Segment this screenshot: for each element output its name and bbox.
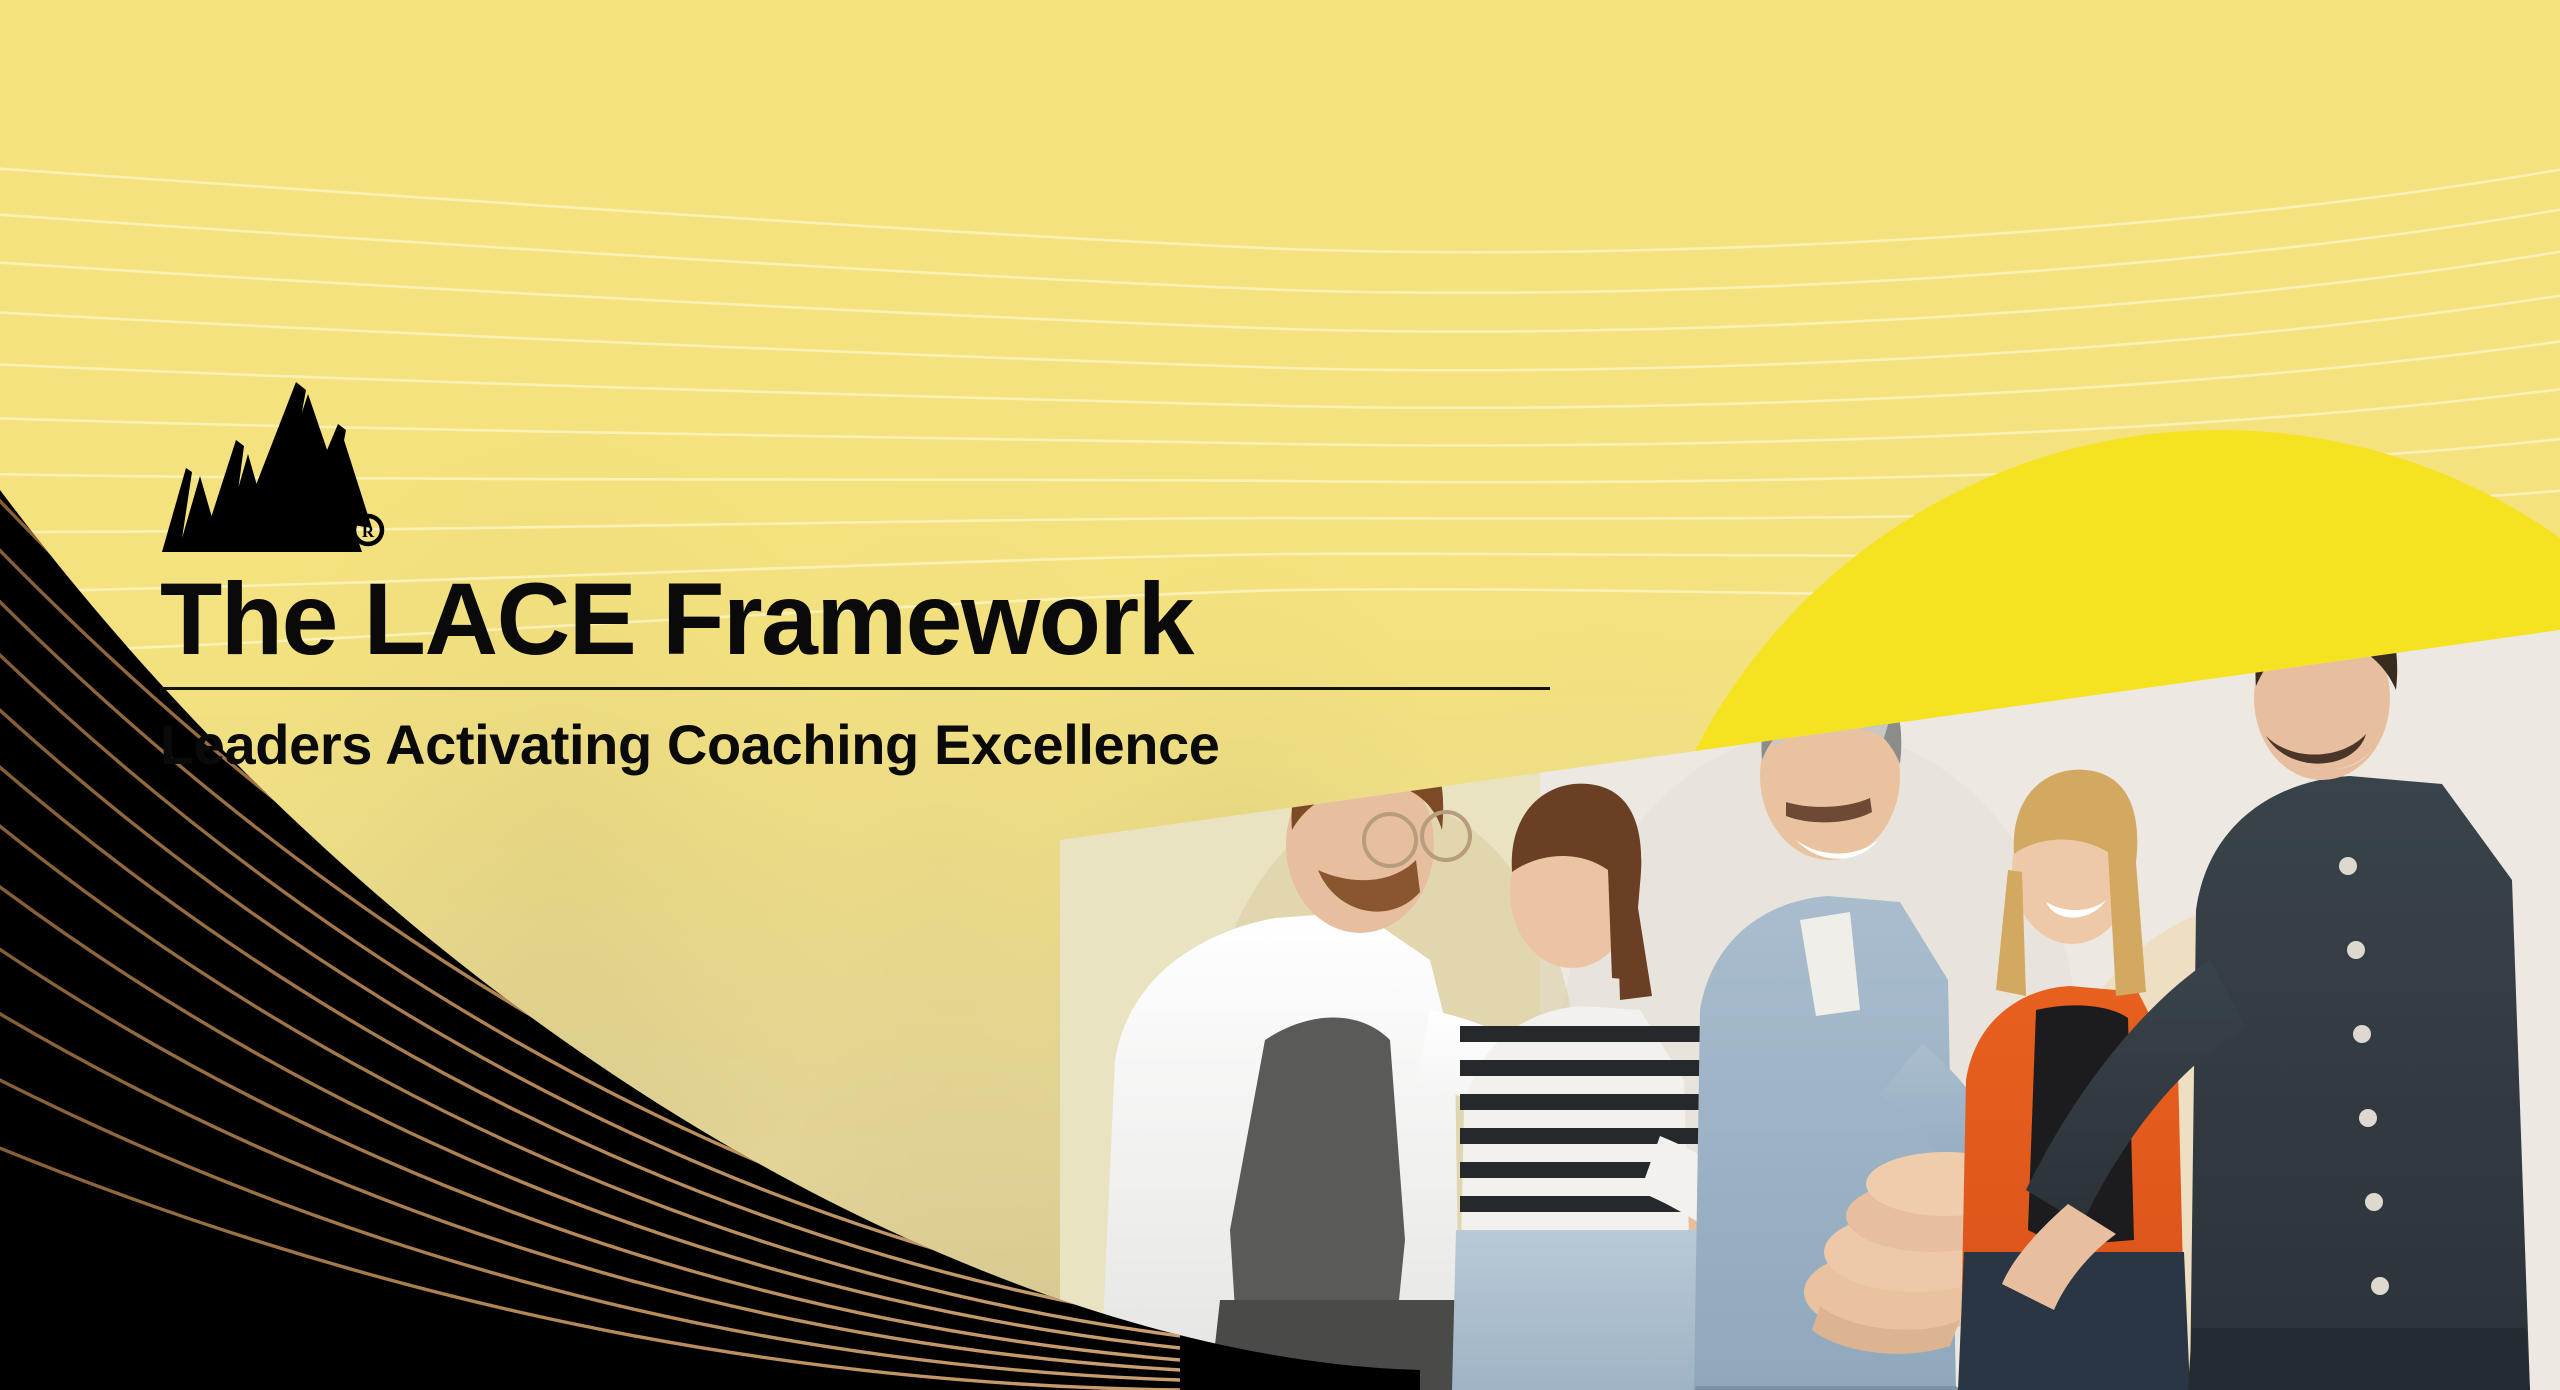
headline-block: R The LACE Framework Leaders Activating … xyxy=(160,380,1560,777)
page-subtitle: Leaders Activating Coaching Excellence xyxy=(160,712,1560,777)
page-title: The LACE Framework xyxy=(160,565,1560,673)
title-divider xyxy=(160,687,1550,690)
svg-text:R: R xyxy=(362,522,375,541)
lace-framework-banner: R The LACE Framework Leaders Activating … xyxy=(0,0,2560,1390)
mountain-peaks-logo-icon: R xyxy=(160,380,1560,555)
